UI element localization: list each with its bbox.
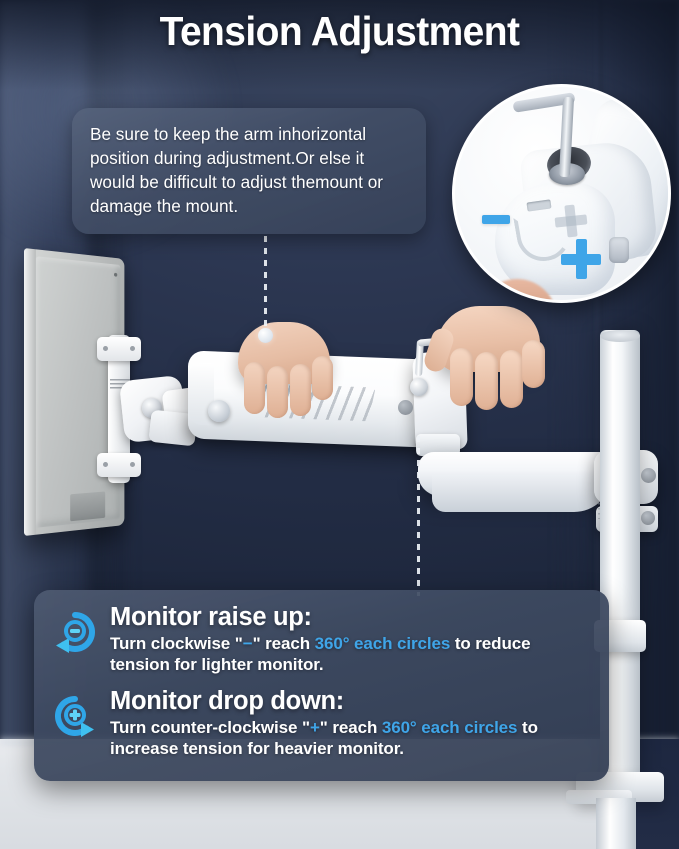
tension-bolt-detail-inset	[452, 84, 671, 303]
callout-leader-line	[264, 236, 267, 332]
clockwise-rotate-minus-icon	[50, 607, 100, 657]
elbow-screw	[398, 400, 413, 415]
instruction-panel: Monitor raise up: Turn clockwise "−" rea…	[34, 590, 609, 781]
instruction-text-raise: Monitor raise up: Turn clockwise "−" rea…	[110, 603, 593, 675]
callout-leader-endpoint	[258, 328, 273, 343]
instruction-heading-drop: Monitor drop down:	[110, 687, 593, 715]
monitor-left-bezel	[24, 248, 36, 536]
drop-accent: 360° each circles	[382, 718, 518, 737]
lower-arm-underside	[432, 474, 612, 512]
inset-side-screw	[609, 237, 629, 263]
right-hand-holding-hex-key	[432, 302, 550, 406]
drop-symbol: +	[310, 718, 320, 737]
inset-plus-marker-icon	[561, 239, 601, 279]
raise-symbol: −	[243, 634, 253, 653]
page-title: Tension Adjustment	[17, 8, 662, 55]
monitor-screw-dot	[114, 273, 117, 277]
instruction-body-drop: Turn counter-clockwise "+" reach 360° ea…	[110, 717, 593, 759]
drop-body-mid: " reach	[320, 718, 382, 737]
warning-callout: Be sure to keep the arm inhorizontal pos…	[72, 108, 426, 234]
instruction-body-raise: Turn clockwise "−" reach 360° each circl…	[110, 633, 593, 675]
elbow-pivot-pin	[410, 378, 428, 396]
arm-leader-line	[417, 436, 420, 596]
raise-body-pre: Turn clockwise "	[110, 634, 243, 653]
pole-top-cap	[600, 330, 640, 342]
raise-body-mid: " reach	[253, 634, 315, 653]
instruction-block-drop: Monitor drop down: Turn counter-clockwis…	[50, 687, 593, 759]
inset-minus-marker-icon	[482, 215, 510, 224]
raise-accent: 360° each circles	[315, 634, 451, 653]
vesa-top-ear	[97, 337, 141, 361]
instruction-heading-raise: Monitor raise up:	[110, 603, 593, 631]
pole-clamp-lower-screw	[641, 511, 655, 525]
instruction-text-drop: Monitor drop down: Turn counter-clockwis…	[110, 687, 593, 759]
arm-release-button	[208, 400, 230, 422]
left-hand-holding-arm	[228, 322, 332, 414]
product-instruction-image: Tension Adjustment	[0, 0, 679, 849]
monitor-vent	[70, 491, 105, 521]
instruction-block-raise: Monitor raise up: Turn clockwise "−" rea…	[50, 603, 593, 675]
drop-body-pre: Turn counter-clockwise "	[110, 718, 310, 737]
counter-clockwise-rotate-plus-icon	[50, 691, 100, 741]
pole-clamp-upper-screw	[641, 468, 656, 483]
pole-clamp-stem-below-desk	[596, 798, 636, 849]
vesa-bottom-ear	[97, 453, 141, 477]
warning-callout-text: Be sure to keep the arm inhorizontal pos…	[90, 122, 408, 218]
